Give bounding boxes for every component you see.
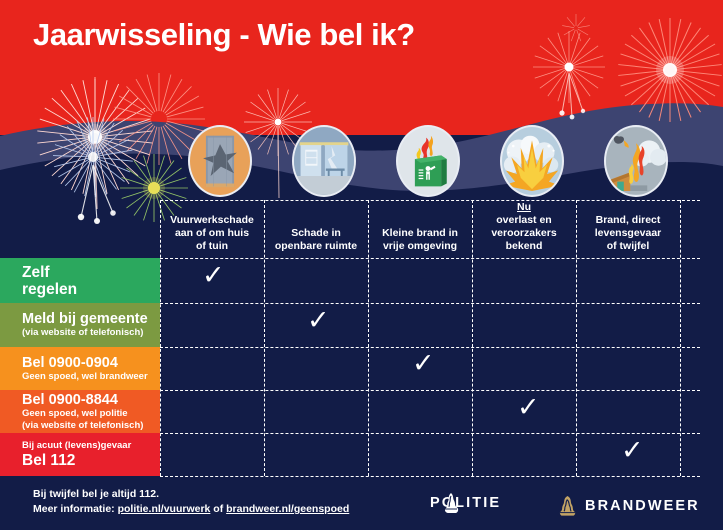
grid-vline bbox=[680, 200, 681, 476]
column-header-line: of tuin bbox=[170, 240, 254, 253]
footer-line1: Bij twijfel bel je altijd 112. bbox=[33, 487, 349, 502]
column-header-brand-levensgevaar: Brand, directlevensgevaarof twijfel bbox=[576, 200, 680, 258]
page-title: Jaarwisseling - Wie bel ik? bbox=[33, 17, 415, 53]
row-label-zelf-regelen: Zelf regelen bbox=[0, 258, 160, 303]
grid-hline bbox=[160, 476, 700, 477]
row-label-line2: regelen bbox=[22, 281, 160, 298]
row-label-line1: Meld bij gemeente bbox=[22, 311, 160, 327]
row-label-line1: Bel 0900-0904 bbox=[22, 355, 160, 371]
row-label-bel-112: Bij acuut (levens)gevaar Bel 112 bbox=[0, 433, 160, 476]
checkmark-cell: ✓ bbox=[621, 437, 644, 464]
damaged-bus-shelter-icon bbox=[292, 125, 356, 197]
footer-note: Bij twijfel bel je altijd 112. Meer info… bbox=[33, 487, 349, 517]
column-header-openbare-ruimte: Schade inopenbare ruimte bbox=[264, 200, 368, 258]
column-header-line: openbare ruimte bbox=[275, 240, 357, 253]
column-header-vuurwerkschade: Vuurwerkschadeaan of om huisof tuin bbox=[160, 200, 264, 258]
row-label-sub2: (via website of telefonisch) bbox=[22, 420, 160, 432]
checkmark-cell: ✓ bbox=[517, 394, 540, 421]
infographic-poster: Jaarwisseling - Wie bel ik? bbox=[0, 0, 723, 530]
column-header-line: Schade in bbox=[275, 227, 357, 240]
grid-hline bbox=[160, 200, 700, 201]
decision-matrix: Vuurwerkschadeaan of om huisof tuin Scha… bbox=[160, 200, 700, 476]
grid-vline bbox=[576, 200, 577, 476]
row-label-line1: Zelf bbox=[22, 264, 160, 281]
column-header-line: aan of om huis bbox=[170, 227, 254, 240]
column-header-line: of twijfel bbox=[595, 240, 662, 253]
link-brandweer-geenspoed[interactable]: brandweer.nl/geenspoed bbox=[226, 503, 349, 515]
burning-house-icon bbox=[604, 125, 668, 197]
grid-hline bbox=[160, 303, 700, 304]
row-label-line1: Bel 112 bbox=[22, 452, 160, 469]
grid-vline bbox=[160, 200, 161, 476]
row-label-sub1: Bij acuut (levens)gevaar bbox=[22, 440, 160, 452]
logo-politie: POLITIE bbox=[430, 495, 501, 511]
row-label-line1: Bel 0900-8844 bbox=[22, 392, 160, 408]
row-label-meld-gemeente: Meld bij gemeente (via website of telefo… bbox=[0, 303, 160, 347]
column-header-line: Nu overlast en bbox=[491, 201, 556, 227]
grid-vline bbox=[264, 200, 265, 476]
grid-vline bbox=[368, 200, 369, 476]
brandweer-flame-shield-icon bbox=[557, 495, 578, 517]
link-politie-vuurwerk[interactable]: politie.nl/vuurwerk bbox=[118, 503, 211, 515]
grid-hline bbox=[160, 390, 700, 391]
grid-hline bbox=[160, 258, 700, 259]
grid-vline bbox=[472, 200, 473, 476]
broken-window-icon bbox=[188, 125, 252, 197]
column-header-line: veroorzakers bbox=[491, 227, 556, 240]
checkmark-cell: ✓ bbox=[202, 262, 225, 289]
column-header-kleine-brand: Kleine brand invrije omgeving bbox=[368, 200, 472, 258]
footer-line2: Meer informatie: politie.nl/vuurwerk of … bbox=[33, 502, 349, 517]
column-header-line: Brand, direct bbox=[595, 214, 662, 227]
checkmark-cell: ✓ bbox=[307, 307, 330, 334]
column-header-line: vrije omgeving bbox=[382, 240, 458, 253]
column-header-line: bekend bbox=[491, 240, 556, 253]
column-header-overlast: Nu overlast enveroorzakersbekend bbox=[472, 200, 576, 258]
logo-brandweer: BRANDWEER bbox=[557, 495, 700, 517]
row-label-bel-0900-0904: Bel 0900-0904 Geen spoed, wel brandweer bbox=[0, 347, 160, 390]
burning-bin-icon bbox=[396, 125, 460, 197]
column-header-line: Kleine brand in bbox=[382, 227, 458, 240]
row-label-sub1: Geen spoed, wel politie bbox=[22, 408, 160, 420]
checkmark-cell: ✓ bbox=[412, 350, 435, 377]
row-label-bel-0900-8844: Bel 0900-8844 Geen spoed, wel politie (v… bbox=[0, 390, 160, 433]
politie-flame-icon bbox=[441, 492, 461, 514]
row-label-sub1: Geen spoed, wel brandweer bbox=[22, 371, 160, 383]
column-header-line: levensgevaar bbox=[595, 227, 662, 240]
row-label-sub1: (via website of telefonisch) bbox=[22, 327, 160, 339]
footer-line2-mid: of bbox=[210, 503, 226, 515]
grid-hline bbox=[160, 433, 700, 434]
footer-line2-prefix: Meer informatie: bbox=[33, 503, 118, 515]
underlined-word: Nu bbox=[491, 201, 556, 214]
column-header-line: Vuurwerkschade bbox=[170, 214, 254, 227]
explosion-icon bbox=[500, 125, 564, 197]
logo-brandweer-text: BRANDWEER bbox=[585, 498, 700, 514]
